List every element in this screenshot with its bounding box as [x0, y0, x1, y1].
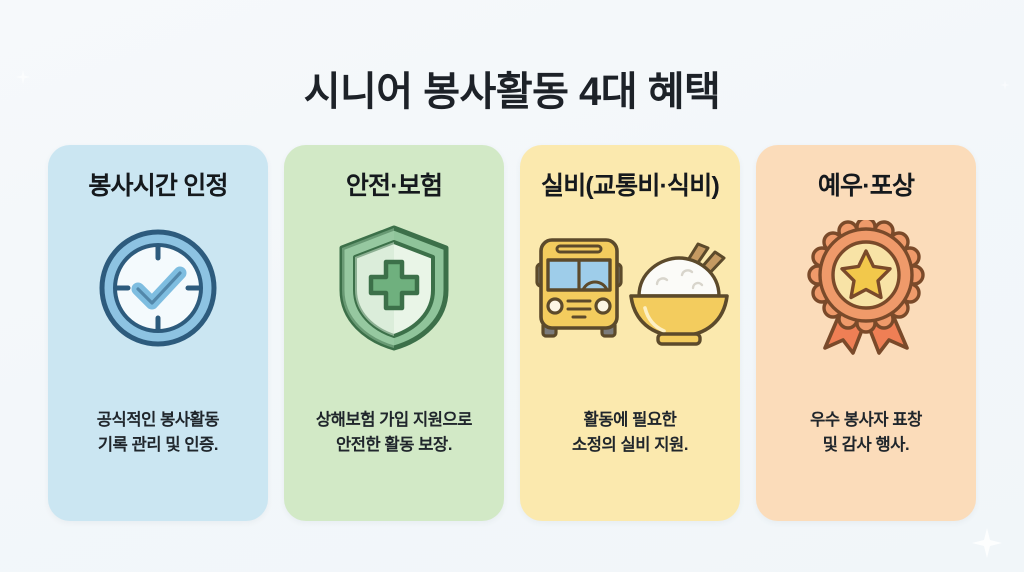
benefit-card-list: 봉사시간 인정 공식적인 봉사활동 기록 관리 및 인증. — [48, 145, 976, 521]
card-description: 공식적인 봉사활동 기록 관리 및 인증. — [85, 408, 231, 459]
page-title: 시니어 봉사활동 4대 혜택 — [0, 69, 1024, 115]
benefit-card-volunteer-hours[interactable]: 봉사시간 인정 공식적인 봉사활동 기록 관리 및 인증. — [48, 145, 268, 521]
bus-and-rice-bowl-icon — [520, 223, 740, 353]
shield-cross-icon — [284, 223, 504, 353]
infographic-canvas: 시니어 봉사활동 4대 혜택 봉사시간 인정 — [0, 0, 1024, 572]
card-title: 예우·포상 — [812, 171, 920, 201]
card-title: 안전·보험 — [340, 171, 448, 201]
card-description: 우수 봉사자 표창 및 감사 행사. — [798, 408, 934, 459]
benefit-card-safety-insurance[interactable]: 안전·보험 상해보험 가입 지원으로 안전한 활동 보장. — [284, 145, 504, 521]
award-ribbon-star-icon — [756, 223, 976, 353]
sparkle-decoration-icon — [972, 528, 1002, 558]
benefit-card-honor-award[interactable]: 예우·포상 — [756, 145, 976, 521]
benefit-card-expense-support[interactable]: 실비(교통비·식비) — [520, 145, 740, 521]
card-title: 봉사시간 인정 — [82, 171, 233, 201]
card-title: 실비(교통비·식비) — [535, 171, 725, 201]
card-description: 활동에 필요한 소정의 실비 지원. — [560, 408, 700, 459]
clock-check-icon — [48, 223, 268, 353]
card-description: 상해보험 가입 지원으로 안전한 활동 보장. — [304, 408, 484, 459]
